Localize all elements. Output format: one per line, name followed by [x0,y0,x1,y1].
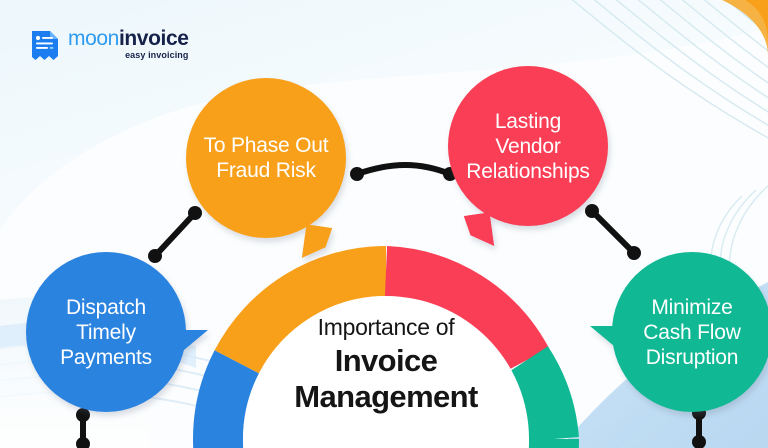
brand-wordmark: mooninvoice easy invoicing [68,28,189,62]
brand-tagline: easy invoicing [125,49,188,62]
brand-name: mooninvoice [68,28,189,49]
donut-segment-dispatch-lower [218,439,237,448]
bubble-tail-cashflow [590,326,624,358]
center-title-line2: Invoice [275,343,497,379]
brand-logo[interactable]: mooninvoice easy invoicing [30,28,189,62]
bubble-label-cashflow: Minimize Cash Flow Disruption [635,295,748,370]
bubble-to-phase-out-fraud-risk[interactable]: To Phase Out Fraud Risk [186,78,346,238]
bubble-label-fraud: To Phase Out Fraud Risk [196,133,337,183]
center-title-block: Importance of Invoice Management [275,312,497,415]
center-title-line1: Importance of [275,312,497,343]
invoice-document-icon [30,29,60,61]
bubble-lasting-vendor-relationships[interactable]: Lasting Vendor Relationships [448,66,608,226]
center-title-line3: Management [275,379,497,415]
bubble-label-vendor: Lasting Vendor Relationships [458,109,597,184]
brand-name-invoice: invoice [119,27,189,50]
bubble-tail-vendor [464,212,494,249]
bubble-tail-fraud [302,224,332,261]
connector-fraud-vendor [357,165,450,174]
brand-name-moon: moon [68,27,119,50]
donut-segment-dispatch [218,362,237,439]
bubble-tail-dispatch [174,330,208,362]
bubble-minimize-cash-flow-disruption[interactable]: Minimize Cash Flow Disruption [612,252,768,412]
bubble-dispatch-timely-payments[interactable]: Dispatch Timely Payments [26,252,186,412]
donut-segment-cashflow [527,360,554,439]
infographic-canvas: mooninvoice easy invoicing [0,0,768,448]
connector-dispatch-fraud [155,213,195,256]
bubble-label-dispatch: Dispatch Timely Payments [52,295,160,370]
connector-vendor-cashflow [592,211,634,253]
